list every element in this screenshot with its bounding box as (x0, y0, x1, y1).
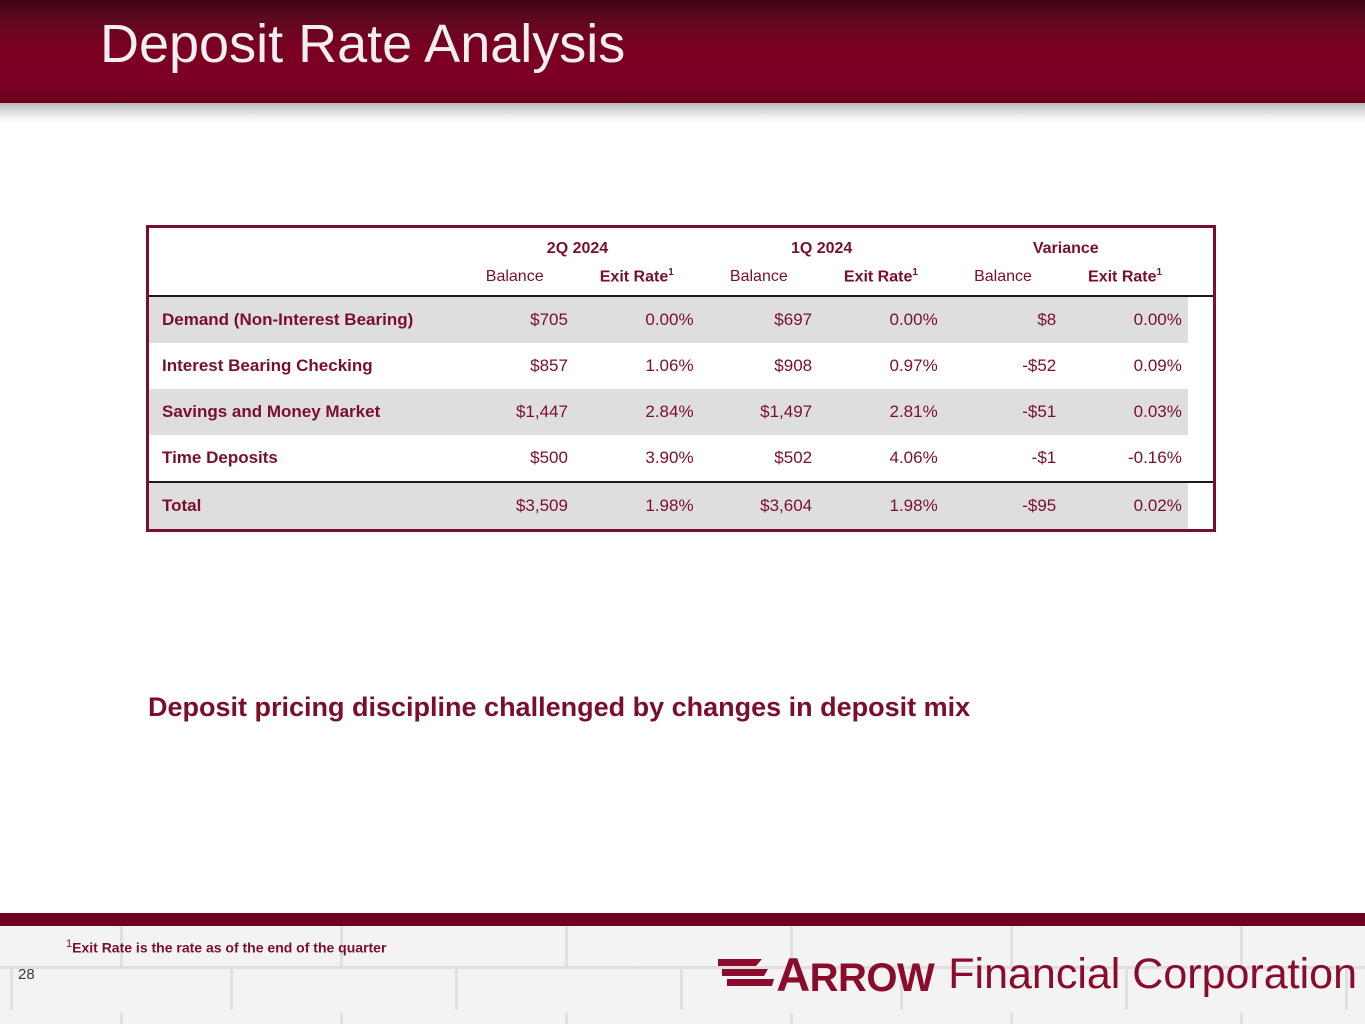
footnote-marker-icon: 1 (912, 267, 918, 278)
row-label: Time Deposits (149, 435, 455, 481)
cell-pad (1188, 389, 1213, 435)
group-header-pad (1188, 228, 1213, 264)
page-number: 28 (18, 966, 35, 983)
page-title: Deposit Rate Analysis (100, 13, 625, 75)
cell-pad (1188, 435, 1213, 481)
arrow-logo-icon (718, 956, 774, 992)
group-header-1q-2024: 1Q 2024 (700, 228, 944, 264)
sub-header-pad (1188, 264, 1213, 295)
cell-2q-rate: 2.84% (574, 389, 700, 435)
row-label: Savings and Money Market (149, 389, 455, 435)
cell-variance-balance: -$1 (944, 435, 1063, 481)
logo-wordmark-arrow: ARROW (776, 951, 934, 998)
logo-wordmark-arrow-rest: RROW (810, 956, 935, 1000)
cell-pad (1188, 343, 1213, 389)
cell-pad (1188, 483, 1213, 529)
sub-header-variance-exit-rate-text: Exit Rate (1088, 268, 1156, 285)
cell-total-2q-balance: $3,509 (455, 483, 574, 529)
table-row: Time Deposits $500 3.90% $502 4.06% -$1 … (149, 435, 1213, 481)
cell-2q-rate: 3.90% (574, 435, 700, 481)
sub-header-1q-exit-rate: Exit Rate1 (818, 264, 944, 295)
cell-total-variance-rate: 0.02% (1062, 483, 1188, 529)
footnote-marker-icon: 1 (668, 267, 674, 278)
sub-header-blank (149, 264, 455, 295)
key-takeaway-text: Deposit pricing discipline challenged by… (148, 692, 1228, 723)
table-row: Interest Bearing Checking $857 1.06% $90… (149, 343, 1213, 389)
cell-variance-balance: -$51 (944, 389, 1063, 435)
banner-drop-shadow (0, 103, 1365, 123)
cell-1q-balance: $502 (700, 435, 819, 481)
title-banner: Deposit Rate Analysis (0, 0, 1365, 103)
row-label-total: Total (149, 483, 455, 529)
sub-header-2q-exit-rate-text: Exit Rate (600, 268, 668, 285)
footnote-marker-icon: 1 (1157, 267, 1163, 278)
cell-total-2q-rate: 1.98% (574, 483, 700, 529)
footnote-text: 1Exit Rate is the rate as of the end of … (66, 938, 386, 956)
group-header-2q-2024: 2Q 2024 (455, 228, 699, 264)
cell-1q-rate: 0.97% (818, 343, 944, 389)
deposit-rate-table: 2Q 2024 1Q 2024 Variance Balance Exit Ra… (146, 225, 1216, 532)
cell-1q-rate: 4.06% (818, 435, 944, 481)
cell-variance-rate: 0.03% (1062, 389, 1188, 435)
cell-1q-balance: $1,497 (700, 389, 819, 435)
company-logo: ARROW Financial Corporation (718, 948, 1357, 1000)
sub-header-1q-balance: Balance (700, 264, 819, 295)
footnote-body: Exit Rate is the rate as of the end of t… (72, 940, 386, 956)
cell-pad (1188, 297, 1213, 343)
table-body: Demand (Non-Interest Bearing) $705 0.00%… (149, 297, 1213, 529)
cell-variance-rate: 0.00% (1062, 297, 1188, 343)
row-label: Interest Bearing Checking (149, 343, 455, 389)
cell-variance-balance: -$52 (944, 343, 1063, 389)
cell-variance-balance: $8 (944, 297, 1063, 343)
table-group-header-row: 2Q 2024 1Q 2024 Variance (149, 228, 1213, 264)
sub-header-2q-exit-rate: Exit Rate1 (574, 264, 700, 295)
cell-variance-rate: -0.16% (1062, 435, 1188, 481)
logo-wordmark-arrow-cap: A (776, 948, 809, 1001)
cell-total-1q-balance: $3,604 (700, 483, 819, 529)
group-header-variance: Variance (944, 228, 1188, 264)
row-label: Demand (Non-Interest Bearing) (149, 297, 455, 343)
cell-total-variance-balance: -$95 (944, 483, 1063, 529)
logo-wordmark-financial-corporation: Financial Corporation (948, 953, 1357, 996)
cell-1q-balance: $908 (700, 343, 819, 389)
table-row: Demand (Non-Interest Bearing) $705 0.00%… (149, 297, 1213, 343)
cell-2q-balance: $1,447 (455, 389, 574, 435)
footer-accent-rule (0, 913, 1365, 926)
cell-variance-rate: 0.09% (1062, 343, 1188, 389)
cell-1q-rate: 2.81% (818, 389, 944, 435)
sub-header-2q-balance: Balance (455, 264, 574, 295)
cell-2q-balance: $500 (455, 435, 574, 481)
cell-2q-rate: 1.06% (574, 343, 700, 389)
cell-1q-balance: $697 (700, 297, 819, 343)
sub-header-variance-exit-rate: Exit Rate1 (1062, 264, 1188, 295)
cell-2q-balance: $857 (455, 343, 574, 389)
cell-2q-rate: 0.00% (574, 297, 700, 343)
group-header-blank (149, 228, 455, 264)
table-row-total: Total $3,509 1.98% $3,604 1.98% -$95 0.0… (149, 483, 1213, 529)
cell-1q-rate: 0.00% (818, 297, 944, 343)
cell-total-1q-rate: 1.98% (818, 483, 944, 529)
sub-header-1q-exit-rate-text: Exit Rate (844, 268, 912, 285)
sub-header-variance-balance: Balance (944, 264, 1063, 295)
table-sub-header-row: Balance Exit Rate1 Balance Exit Rate1 Ba… (149, 264, 1213, 295)
cell-2q-balance: $705 (455, 297, 574, 343)
table-row: Savings and Money Market $1,447 2.84% $1… (149, 389, 1213, 435)
